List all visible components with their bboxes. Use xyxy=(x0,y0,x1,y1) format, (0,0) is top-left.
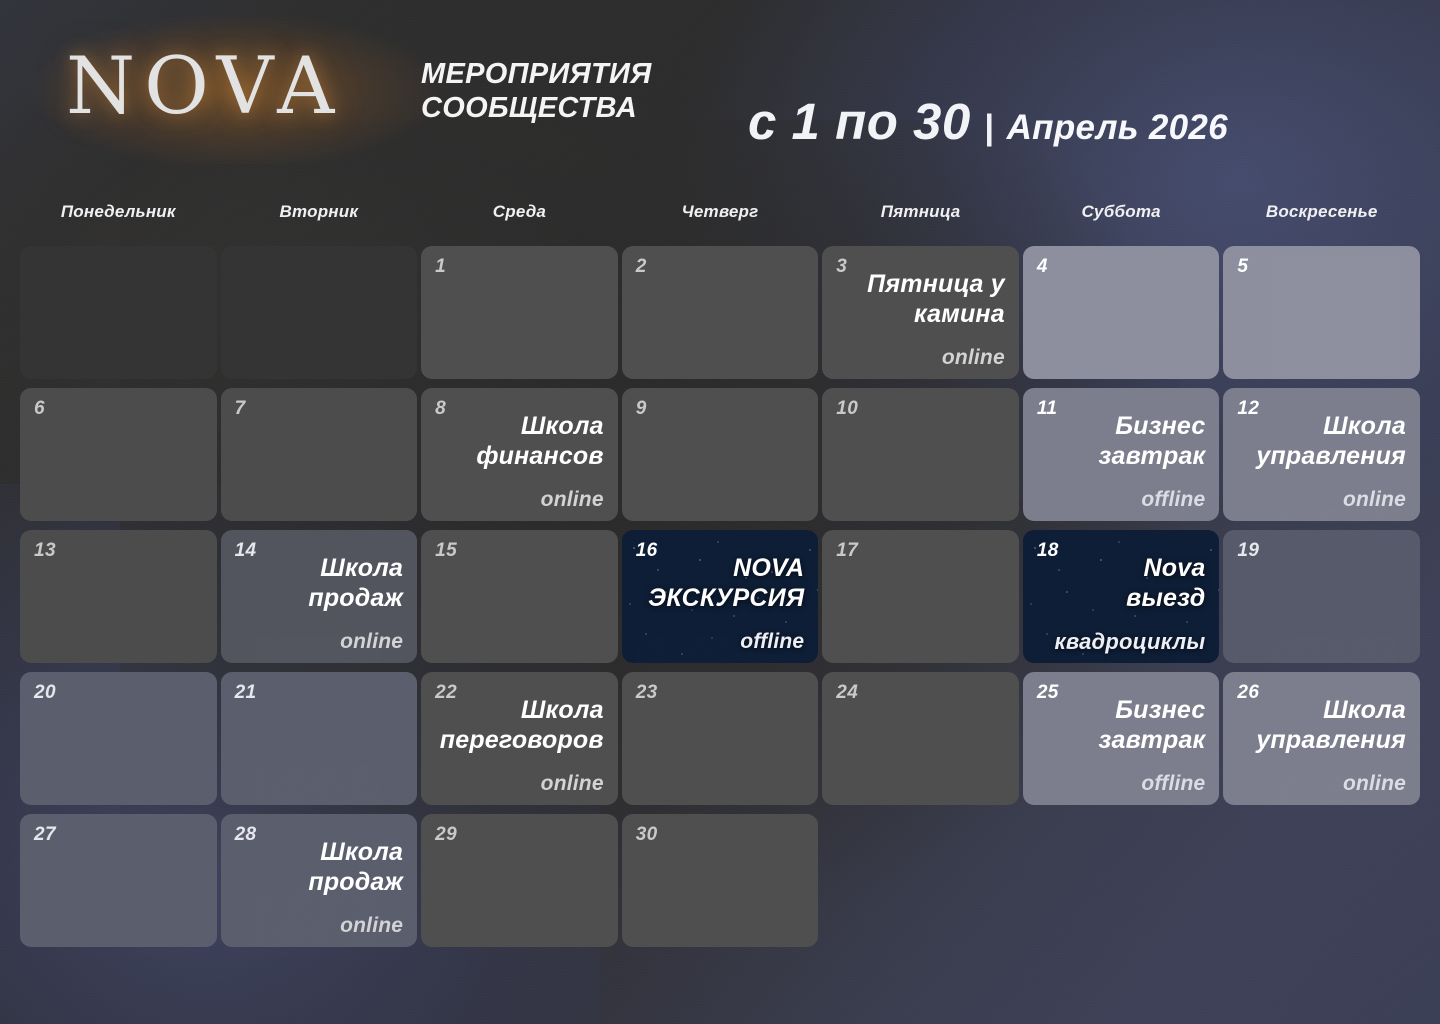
calendar-day-cell[interactable]: 29 xyxy=(421,814,618,947)
event-title: Бизнес завтрак xyxy=(1037,695,1206,755)
weekday-label-4: Пятница xyxy=(822,202,1019,222)
calendar-day-cell[interactable]: 19 xyxy=(1223,530,1420,663)
calendar-day-cell[interactable]: 6 xyxy=(20,388,217,521)
calendar-day-cell[interactable]: 2 xyxy=(622,246,819,379)
event-mode-badge: online xyxy=(1237,488,1406,512)
day-number: 21 xyxy=(235,682,257,704)
event-title: Бизнес завтрак xyxy=(1037,411,1206,471)
date-range-month: Апрель 2026 xyxy=(1007,108,1228,148)
calendar-day-cell-event[interactable]: 28Школа продажonline xyxy=(221,814,418,947)
calendar-day-cell[interactable]: 4 xyxy=(1023,246,1220,379)
date-range-separator: | xyxy=(984,108,994,148)
event-mode-badge: online xyxy=(435,772,604,796)
calendar-day-cell-event[interactable]: 11Бизнес завтракoffline xyxy=(1023,388,1220,521)
calendar-day-cell-event[interactable]: 16NOVA ЭКСКУРСИЯoffline xyxy=(622,530,819,663)
event-mode-badge: online xyxy=(836,346,1005,370)
calendar-day-cell-event[interactable]: 18Nova выездквадроциклы xyxy=(1023,530,1220,663)
event-title: Школа продаж xyxy=(235,553,404,613)
event-mode-badge: online xyxy=(435,488,604,512)
event-title: NOVA ЭКСКУРСИЯ xyxy=(636,553,805,613)
event-mode-badge: квадроциклы xyxy=(1037,630,1206,654)
day-number: 2 xyxy=(636,256,647,278)
day-number: 17 xyxy=(836,540,858,562)
event-title: Школа управления xyxy=(1237,411,1406,471)
date-range-days: с 1 по 30 xyxy=(748,92,971,151)
day-number: 6 xyxy=(34,398,45,420)
day-number: 9 xyxy=(636,398,647,420)
calendar-day-cell[interactable]: 1 xyxy=(421,246,618,379)
day-number: 4 xyxy=(1037,256,1048,278)
calendar-day-cell[interactable]: 30 xyxy=(622,814,819,947)
day-number: 15 xyxy=(435,540,457,562)
day-number: 7 xyxy=(235,398,246,420)
weekday-label-2: Среда xyxy=(421,202,618,222)
calendar-day-cell xyxy=(20,246,217,379)
subtitle-line-2: СООБЩЕСТВА xyxy=(421,91,721,125)
event-mode-badge: online xyxy=(235,630,404,654)
day-number: 29 xyxy=(435,824,457,846)
subtitle-line-1: МЕРОПРИЯТИЯ xyxy=(421,57,721,91)
weekday-label-5: Суббота xyxy=(1023,202,1220,222)
event-mode-badge: offline xyxy=(1037,488,1206,512)
calendar-day-cell-event[interactable]: 22Школа переговоровonline xyxy=(421,672,618,805)
day-number: 24 xyxy=(836,682,858,704)
calendar-day-cell[interactable]: 15 xyxy=(421,530,618,663)
poster-header: NOVA МЕРОПРИЯТИЯ СООБЩЕСТВА с 1 по 30 | … xyxy=(0,0,1440,186)
day-number: 27 xyxy=(34,824,56,846)
calendar-day-cell[interactable]: 13 xyxy=(20,530,217,663)
calendar-day-cell[interactable]: 10 xyxy=(822,388,1019,521)
weekday-label-1: Вторник xyxy=(221,202,418,222)
event-title: Школа управления xyxy=(1237,695,1406,755)
weekday-label-3: Четверг xyxy=(622,202,819,222)
event-title: Nova выезд xyxy=(1037,553,1206,613)
event-title: Пятница у камина xyxy=(836,269,1005,329)
calendar-day-cell-event[interactable]: 12Школа управленияonline xyxy=(1223,388,1420,521)
calendar-day-cell[interactable]: 23 xyxy=(622,672,819,805)
brand-logo: NOVA xyxy=(66,40,396,132)
day-number: 23 xyxy=(636,682,658,704)
event-mode-badge: offline xyxy=(1037,772,1206,796)
brand-logo-text: NOVA xyxy=(66,40,396,132)
calendar-day-cell[interactable]: 27 xyxy=(20,814,217,947)
poster-subtitle: МЕРОПРИЯТИЯ СООБЩЕСТВА xyxy=(421,57,721,125)
weekday-label-0: Понедельник xyxy=(20,202,217,222)
calendar-day-cell xyxy=(221,246,418,379)
calendar-grid: 123Пятница у каминаonline45678Школа фина… xyxy=(20,246,1420,947)
day-number: 30 xyxy=(636,824,658,846)
event-mode-badge: online xyxy=(235,914,404,938)
day-number: 5 xyxy=(1237,256,1248,278)
event-mode-badge: offline xyxy=(636,630,805,654)
day-number: 19 xyxy=(1237,540,1259,562)
calendar-day-cell-event[interactable]: 14Школа продажonline xyxy=(221,530,418,663)
calendar-day-cell[interactable]: 24 xyxy=(822,672,1019,805)
event-title: Школа финансов xyxy=(435,411,604,471)
calendar-day-cell-event[interactable]: 26Школа управленияonline xyxy=(1223,672,1420,805)
event-title: Школа переговоров xyxy=(435,695,604,755)
calendar-day-cell[interactable]: 5 xyxy=(1223,246,1420,379)
calendar-day-cell[interactable]: 20 xyxy=(20,672,217,805)
calendar-poster: NOVA МЕРОПРИЯТИЯ СООБЩЕСТВА с 1 по 30 | … xyxy=(0,0,1440,1024)
calendar-day-cell-event[interactable]: 25Бизнес завтракoffline xyxy=(1023,672,1220,805)
day-number: 1 xyxy=(435,256,446,278)
event-title: Школа продаж xyxy=(235,837,404,897)
day-number: 10 xyxy=(836,398,858,420)
weekday-header-row: ПонедельникВторникСредаЧетвергПятницаСуб… xyxy=(20,202,1420,222)
calendar-day-cell-event[interactable]: 3Пятница у каминаonline xyxy=(822,246,1019,379)
day-number: 13 xyxy=(34,540,56,562)
event-mode-badge: online xyxy=(1237,772,1406,796)
day-number: 20 xyxy=(34,682,56,704)
date-range: с 1 по 30 | Апрель 2026 xyxy=(748,92,1228,151)
calendar-day-cell[interactable]: 7 xyxy=(221,388,418,521)
calendar-day-cell[interactable]: 21 xyxy=(221,672,418,805)
weekday-label-6: Воскресенье xyxy=(1223,202,1420,222)
calendar-day-cell[interactable]: 17 xyxy=(822,530,1019,663)
calendar-day-cell[interactable]: 9 xyxy=(622,388,819,521)
calendar-day-cell-event[interactable]: 8Школа финансовonline xyxy=(421,388,618,521)
